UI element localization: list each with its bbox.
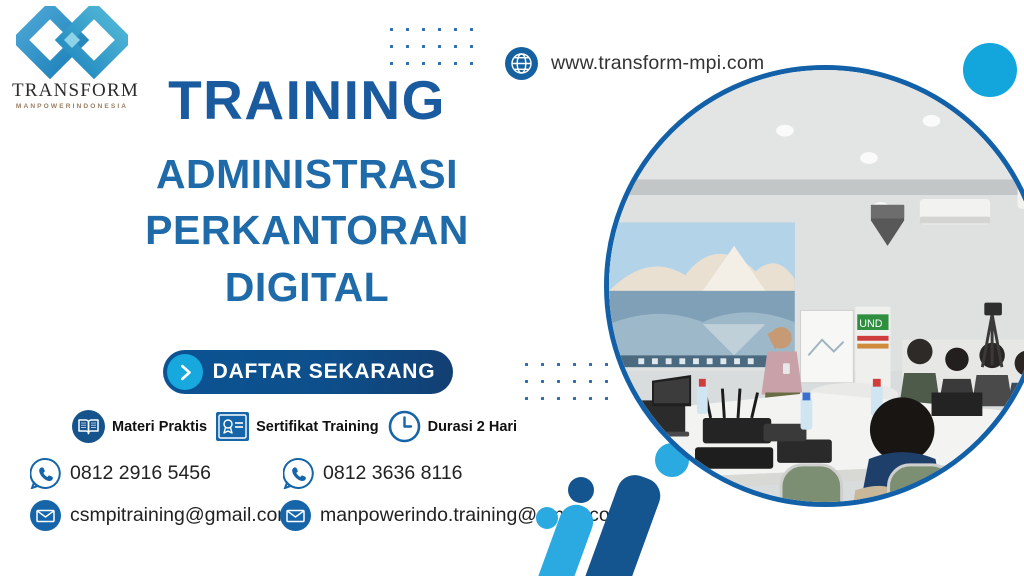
whatsapp-phone-icon [283,458,314,489]
headline-subtitle: ADMINISTRASI PERKANTORAN DIGITAL [0,146,614,316]
headline-line-3: DIGITAL [0,259,614,316]
clock-icon [388,410,421,443]
headline-block: TRAINING ADMINISTRASI PERKANTORAN DIGITA… [0,72,614,315]
envelope-icon [280,500,311,531]
contact-phone-1[interactable]: 0812 2916 5456 [30,458,211,489]
headline-line-2: PERKANTORAN [0,202,614,259]
headline-line-1: ADMINISTRASI [0,146,614,203]
whatsapp-phone-icon [30,458,61,489]
feature-list: Materi Praktis Sertifikat Training Duras… [72,410,517,443]
book-icon [72,410,105,443]
feature-item-sertifikat: Sertifikat Training [216,410,378,443]
decor-circle-cyan-small [536,507,558,529]
poster-canvas: TRANSFORM MANPOWERINDONESIA www.transfor… [0,0,1024,576]
training-room-photo: UND [604,65,1024,507]
feature-item-materi: Materi Praktis [72,410,207,443]
certificate-icon [216,410,249,443]
dot-grid-mid [525,363,608,400]
feature-label-materi: Materi Praktis [112,419,207,435]
svg-text:UND: UND [859,318,883,330]
envelope-icon [30,500,61,531]
contact-phone-1-text: 0812 2916 5456 [70,462,211,485]
training-room-illustration: UND [609,70,1024,502]
headline-main: TRAINING [0,72,614,130]
feature-item-durasi: Durasi 2 Hari [388,410,517,443]
decor-circle-navy [568,477,594,503]
dot-grid-top [390,28,473,65]
interlocking-diamonds-logo-icon [16,6,128,80]
contact-phone-2-text: 0812 3636 8116 [323,462,463,485]
feature-label-durasi: Durasi 2 Hari [428,419,517,435]
register-button-label: DAFTAR SEKARANG [203,360,453,384]
contact-email-1[interactable]: csmpitraining@gmail.com [30,500,294,531]
feature-label-sertifikat: Sertifikat Training [256,419,378,435]
register-button[interactable]: DAFTAR SEKARANG [163,350,453,394]
contact-email-1-text: csmpitraining@gmail.com [70,504,294,527]
contact-phone-2[interactable]: 0812 3636 8116 [283,458,463,489]
chevron-right-icon [167,354,203,390]
